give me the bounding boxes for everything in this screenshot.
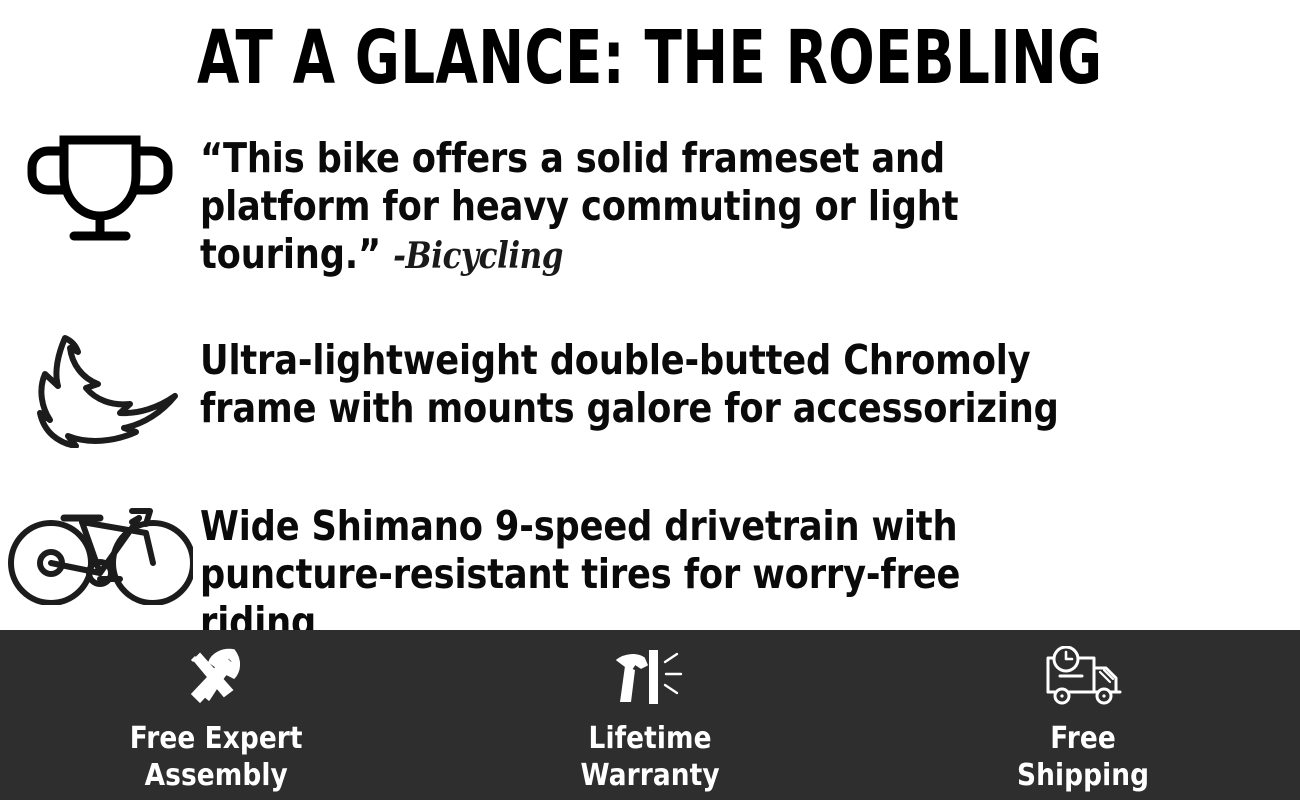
feature-text: Wide Shimano 9-speed drivetrain with pun… xyxy=(200,460,1146,646)
footer-label-line1: Lifetime xyxy=(580,720,719,757)
feature-quote: “This bike offers a solid frameset and p… xyxy=(200,134,958,278)
feature-list: “This bike offers a solid frameset and p… xyxy=(0,120,1300,630)
footer-label: Lifetime Warranty xyxy=(580,720,719,794)
page-title: AT A GLANCE: THE ROEBLING xyxy=(197,18,1102,98)
footer-label-line2: Assembly xyxy=(130,757,303,794)
footer-icon-slot xyxy=(178,646,256,708)
feature-row: “This bike offers a solid frameset and p… xyxy=(0,120,1300,290)
footer-label-line2: Shipping xyxy=(1017,757,1149,794)
hammer-screwdriver-icon xyxy=(178,646,256,708)
feature-text: Ultra-lightweight double-butted Chromoly… xyxy=(200,290,1146,432)
quote-attribution: -Bicycling xyxy=(393,235,563,277)
feature-icon-slot xyxy=(0,460,200,605)
footer-label-line1: Free xyxy=(1017,720,1149,757)
trophy-icon xyxy=(20,124,180,244)
page-header: AT A GLANCE: THE ROEBLING xyxy=(0,18,1300,98)
footer-label: Free Shipping xyxy=(1017,720,1149,794)
hammer-anvil-icon xyxy=(611,646,689,708)
feature-row: Wide Shimano 9-speed drivetrain with pun… xyxy=(0,460,1300,630)
footer-label: Free Expert Assembly xyxy=(130,720,303,794)
feather-icon xyxy=(18,328,183,448)
footer-label-line1: Free Expert xyxy=(130,720,303,757)
feature-row: Ultra-lightweight double-butted Chromoly… xyxy=(0,290,1300,460)
feature-icon-slot xyxy=(0,120,200,244)
delivery-truck-clock-icon xyxy=(1040,646,1126,708)
footer-icon-slot xyxy=(1040,646,1126,708)
footer-label-line2: Warranty xyxy=(580,757,719,794)
footer-item-assembly: Free Expert Assembly xyxy=(0,630,433,800)
feature-text: “This bike offers a solid frameset and p… xyxy=(200,120,1146,280)
feature-icon-slot xyxy=(0,290,200,448)
benefits-footer: Free Expert Assembly Lifetime xyxy=(0,630,1300,800)
footer-item-warranty: Lifetime Warranty xyxy=(433,630,866,800)
footer-item-shipping: Free Shipping xyxy=(867,630,1300,800)
bicycle-icon xyxy=(8,500,193,605)
footer-icon-slot xyxy=(611,646,689,708)
